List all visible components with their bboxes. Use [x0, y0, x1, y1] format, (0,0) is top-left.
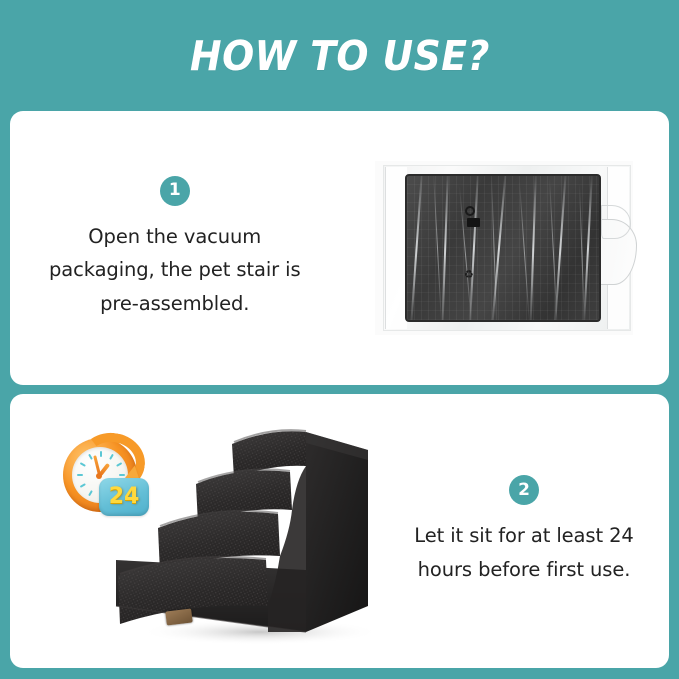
step-1-description: Open the vacuum packaging, the pet stair… [45, 220, 305, 321]
bag-fold-left [385, 167, 407, 329]
foam-label-mark [467, 218, 480, 227]
step-1-number-badge: 1 [160, 176, 190, 206]
step-2-text-pane: 2 Let it sit for at least 24 hours befor… [379, 475, 669, 586]
vacuum-packaging-photo: ♻ [375, 161, 633, 335]
recycle-icon: ♻ [463, 270, 474, 281]
page-header: HOW TO USE? [0, 0, 679, 111]
step-2-number-badge: 2 [509, 475, 539, 505]
step-1-media-pane: ♻ [340, 111, 670, 385]
step-2-description: Let it sit for at least 24 hours before … [394, 519, 654, 586]
step-1-text-pane: 1 Open the vacuum packaging, the pet sta… [10, 176, 340, 321]
compressed-foam-block: ♻ [405, 174, 601, 322]
page-title: HOW TO USE? [190, 32, 490, 80]
pet-stairs-photo [110, 410, 400, 646]
step-card-1: 1 Open the vacuum packaging, the pet sta… [10, 111, 669, 385]
